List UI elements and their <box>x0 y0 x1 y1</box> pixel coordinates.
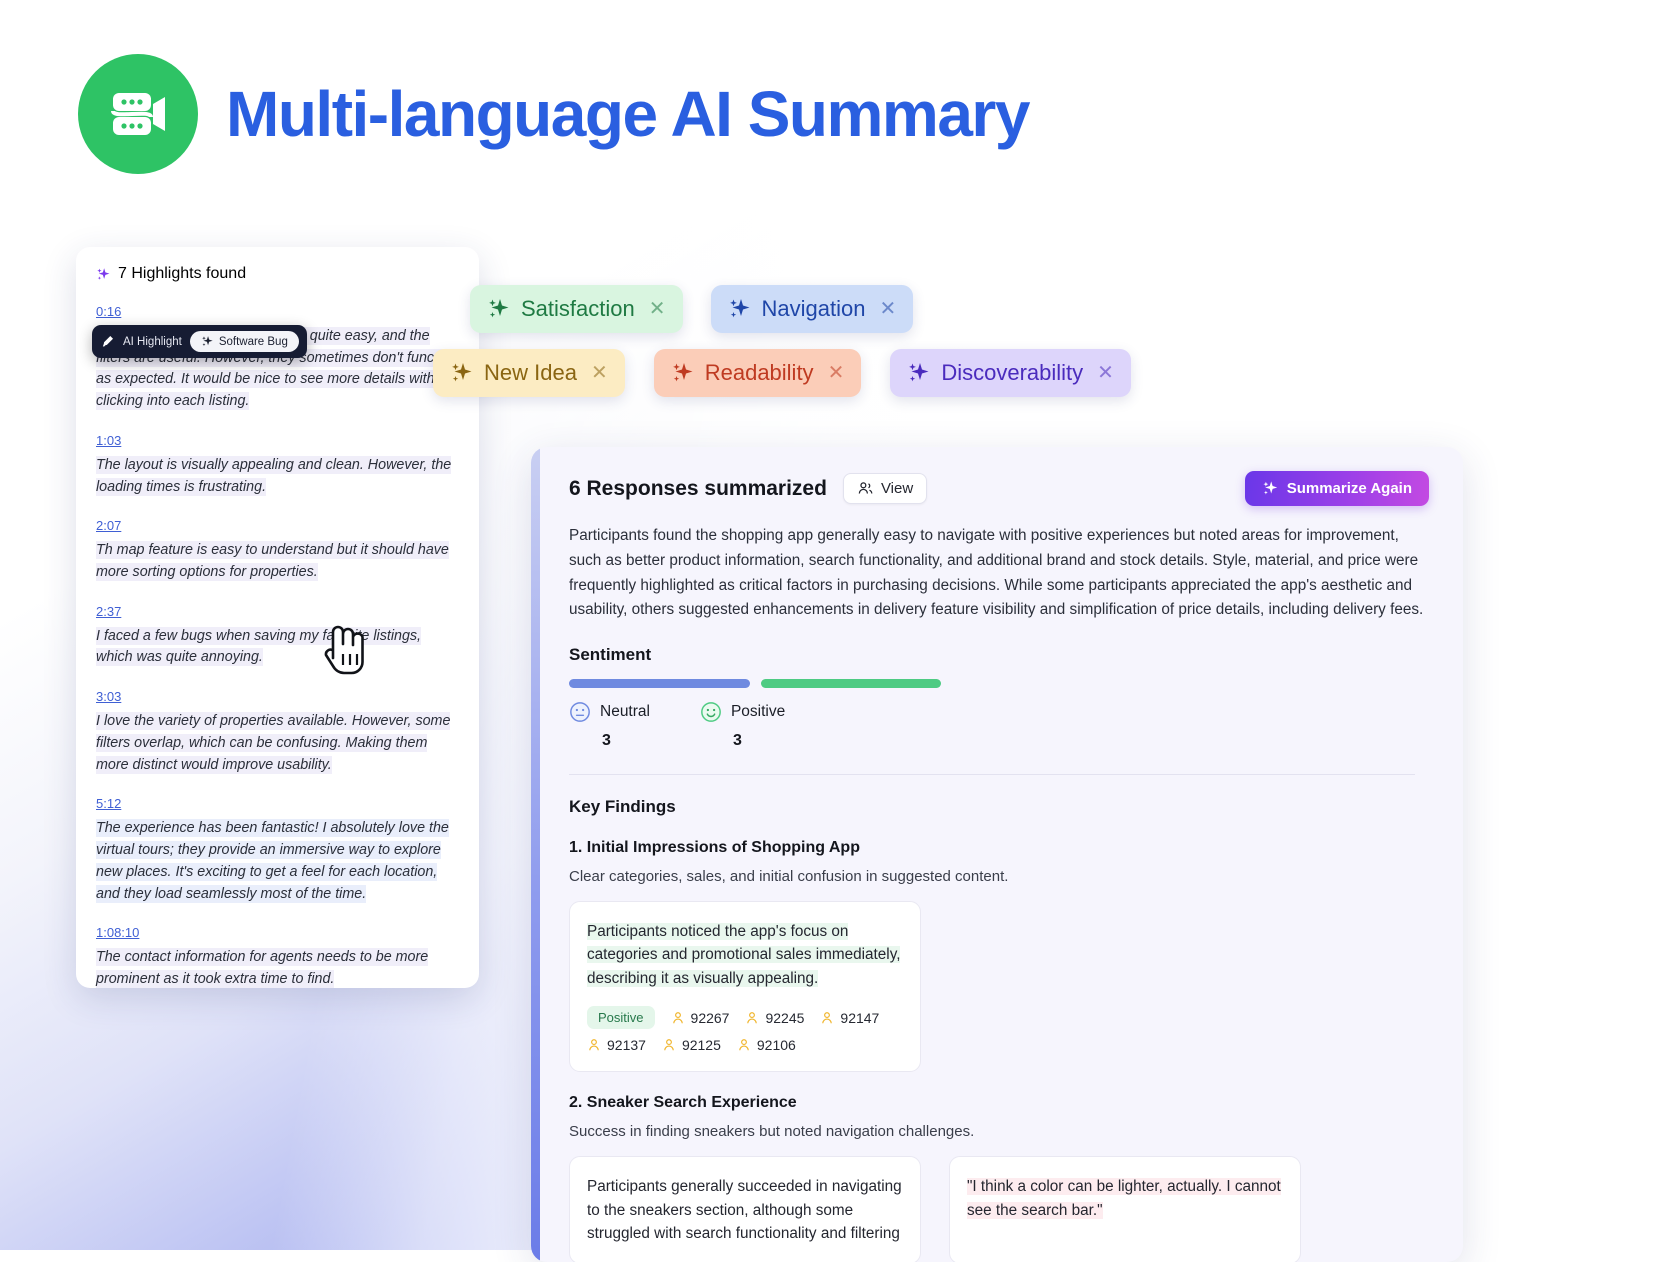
summary-header: 6 Responses summarized View Summarize Ag… <box>569 471 1429 506</box>
page-title: Multi-language AI Summary <box>226 77 1029 151</box>
view-button[interactable]: View <box>843 473 927 504</box>
participant-id-label: 92125 <box>682 1037 721 1053</box>
highlight-text: The layout is visually appealing and cle… <box>96 456 451 496</box>
tag-chip-navigation[interactable]: Navigation ✕ <box>711 285 914 333</box>
participant-id-label: 92267 <box>691 1010 730 1026</box>
sparkle-icon <box>907 361 931 385</box>
participant-id[interactable]: 92147 <box>820 1010 879 1026</box>
highlight-item[interactable]: 2:07 Th map feature is easy to understan… <box>96 517 459 583</box>
highlight-timestamp[interactable]: 0:16 <box>96 304 121 319</box>
highlights-panel: 7 Highlights found 0:16 Navigating the p… <box>76 247 479 988</box>
sentiment-label: Positive <box>731 703 785 721</box>
sparkle-icon <box>96 267 111 282</box>
sentiment-bar-positive <box>761 679 942 688</box>
highlight-item[interactable]: 5:12 The experience has been fantastic! … <box>96 795 459 905</box>
sentiment-legend: Neutral 3 Positive 3 <box>569 701 1429 750</box>
person-icon <box>587 1037 601 1053</box>
video-camera-icon <box>78 54 198 174</box>
tag-chip-new-idea[interactable]: New Idea ✕ <box>433 349 625 397</box>
finding-description: Clear categories, sales, and initial con… <box>569 868 1429 885</box>
sparkle-icon <box>1262 480 1279 497</box>
status-badge: Positive <box>587 1006 655 1029</box>
tag-chip-readability[interactable]: Readability ✕ <box>654 349 862 397</box>
smiley-face-icon <box>700 701 722 723</box>
highlight-timestamp[interactable]: 1:08:10 <box>96 925 139 940</box>
person-icon <box>671 1010 685 1026</box>
highlighter-pen-icon <box>100 334 115 349</box>
highlight-timestamp[interactable]: 3:03 <box>96 689 121 704</box>
people-icon <box>857 480 874 497</box>
finding-card-quote: Participants noticed the app's focus on … <box>587 923 900 987</box>
view-button-label: View <box>881 480 913 497</box>
sentiment-item-neutral: Neutral 3 <box>569 701 650 750</box>
finding-heading: 1. Initial Impressions of Shopping App <box>569 839 1429 857</box>
highlights-count-label: 7 Highlights found <box>118 265 246 283</box>
close-icon[interactable]: ✕ <box>879 299 896 319</box>
person-icon <box>737 1037 751 1053</box>
highlight-timestamp[interactable]: 2:07 <box>96 518 121 533</box>
close-icon[interactable]: ✕ <box>591 363 608 383</box>
sentiment-label: Neutral <box>600 703 650 721</box>
finding-description: Success in finding sneakers but noted na… <box>569 1123 1429 1140</box>
finding-cards-row: Participants generally succeeded in navi… <box>569 1156 1429 1262</box>
page-header: Multi-language AI Summary <box>78 54 1029 174</box>
tag-chips-row-2: New Idea ✕ Readability ✕ Discoverability… <box>433 349 1131 397</box>
tag-chip-label: Navigation <box>762 296 866 322</box>
sparkle-icon <box>487 297 511 321</box>
summary-paragraph: Participants found the shopping app gene… <box>569 524 1429 623</box>
summarize-again-button[interactable]: Summarize Again <box>1245 471 1429 506</box>
highlight-item[interactable]: 3:03 I love the variety of properties av… <box>96 688 459 776</box>
close-icon[interactable]: ✕ <box>649 299 666 319</box>
tag-chip-satisfaction[interactable]: Satisfaction ✕ <box>470 285 683 333</box>
participant-id[interactable]: 92106 <box>737 1037 796 1053</box>
finding-heading: 2. Sneaker Search Experience <box>569 1094 1429 1112</box>
participant-id[interactable]: 92137 <box>587 1037 646 1053</box>
tag-chips-row-1: Satisfaction ✕ Navigation ✕ <box>470 285 913 333</box>
highlight-text: Th map feature is easy to understand but… <box>96 541 449 581</box>
highlight-timestamp[interactable]: 2:37 <box>96 604 121 619</box>
person-icon <box>820 1010 834 1026</box>
tag-chip-label: Discoverability <box>941 360 1083 386</box>
software-bug-pill[interactable]: Software Bug <box>190 331 299 352</box>
tag-chip-label: Readability <box>705 360 814 386</box>
highlight-text: The experience has been fantastic! I abs… <box>96 819 449 902</box>
tag-chip-discoverability[interactable]: Discoverability ✕ <box>890 349 1131 397</box>
finding-card-quote[interactable]: "I think a color can be lighter, actuall… <box>949 1156 1301 1262</box>
highlight-item[interactable]: 1:03 The layout is visually appealing an… <box>96 432 459 498</box>
section-divider <box>569 774 1415 775</box>
sparkle-icon <box>671 361 695 385</box>
highlight-text: I love the variety of properties availab… <box>96 712 450 773</box>
finding-card-meta: Positive 92267 92245 <box>587 1006 903 1053</box>
sparkle-icon <box>201 335 214 348</box>
key-findings-title: Key Findings <box>569 797 1429 817</box>
sentiment-count: 3 <box>733 732 785 750</box>
finding-cards-row: Participants noticed the app's focus on … <box>569 901 1429 1072</box>
highlight-item[interactable]: 1:08:10 The contact information for agen… <box>96 924 459 988</box>
highlight-timestamp[interactable]: 1:03 <box>96 433 121 448</box>
sparkle-icon <box>728 297 752 321</box>
summary-panel: 6 Responses summarized View Summarize Ag… <box>531 447 1463 1262</box>
responses-summarized-title: 6 Responses summarized <box>569 477 827 501</box>
highlight-text: The contact information for agents needs… <box>96 948 428 988</box>
close-icon[interactable]: ✕ <box>1097 363 1114 383</box>
person-icon <box>745 1010 759 1026</box>
ai-highlight-label: AI Highlight <box>123 336 182 348</box>
ai-highlight-tooltip[interactable]: AI Highlight Software Bug <box>92 325 307 358</box>
finding-card[interactable]: Participants noticed the app's focus on … <box>569 901 921 1072</box>
tag-chip-label: Satisfaction <box>521 296 635 322</box>
participant-id[interactable]: 92245 <box>745 1010 804 1026</box>
close-icon[interactable]: ✕ <box>828 363 845 383</box>
participant-id-label: 92245 <box>765 1010 804 1026</box>
participant-id-label: 92147 <box>840 1010 879 1026</box>
highlight-timestamp[interactable]: 5:12 <box>96 796 121 811</box>
highlight-item[interactable]: 2:37 I faced a few bugs when saving my f… <box>96 603 459 669</box>
participant-id[interactable]: 92125 <box>662 1037 721 1053</box>
person-icon <box>662 1037 676 1053</box>
sentiment-title: Sentiment <box>569 645 1429 665</box>
participant-id-label: 92137 <box>607 1037 646 1053</box>
sentiment-bars <box>569 679 941 688</box>
participant-id[interactable]: 92267 <box>671 1010 730 1026</box>
sentiment-count: 3 <box>602 732 650 750</box>
mouse-cursor-icon <box>320 618 372 685</box>
participant-id-label: 92106 <box>757 1037 796 1053</box>
tag-chip-label: New Idea <box>484 360 577 386</box>
finding-card-text: "I think a color can be lighter, actuall… <box>967 1175 1283 1222</box>
panel-accent-bar <box>531 447 540 1262</box>
sentiment-bar-neutral <box>569 679 750 688</box>
sparkle-icon <box>450 361 474 385</box>
finding-card-text: Participants noticed the app's focus on … <box>587 920 903 990</box>
summarize-again-label: Summarize Again <box>1287 480 1412 497</box>
neutral-face-icon <box>569 701 591 723</box>
finding-card[interactable]: Participants generally succeeded in navi… <box>569 1156 921 1262</box>
highlight-text: I faced a few bugs when saving my favori… <box>96 627 421 667</box>
quote-text: "I think a color can be lighter, actuall… <box>967 1178 1281 1218</box>
software-bug-label: Software Bug <box>219 336 288 348</box>
highlights-header: 7 Highlights found <box>96 265 459 283</box>
finding-card-text: Participants generally succeeded in navi… <box>587 1175 903 1245</box>
sentiment-item-positive: Positive 3 <box>700 701 785 750</box>
